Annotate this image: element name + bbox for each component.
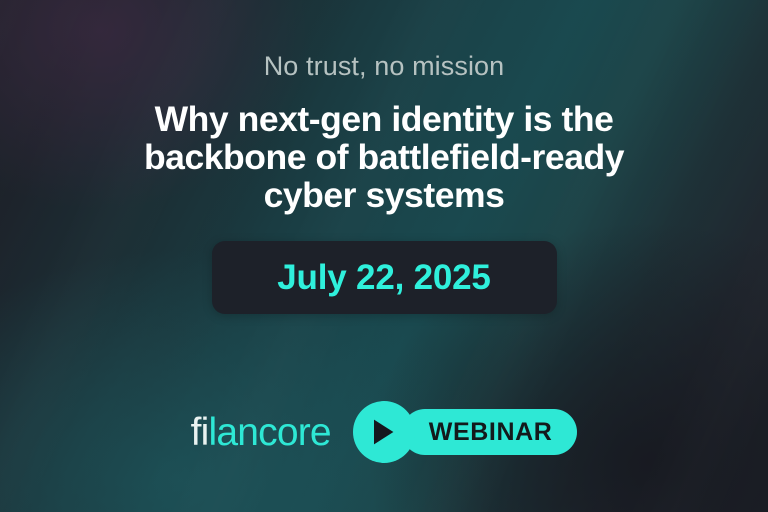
brand-footer: filancore WEBINAR	[0, 401, 768, 463]
play-triangle-icon	[371, 418, 396, 446]
logo-text-fi: fi	[191, 411, 209, 454]
headline-line-1: Why next-gen identity is the	[104, 100, 664, 138]
webinar-promo-slide: No trust, no mission Why next-gen identi…	[0, 0, 768, 512]
page-title: Why next-gen identity is the backbone of…	[104, 100, 664, 214]
headline-line-3: cyber systems	[104, 176, 664, 214]
play-button[interactable]	[353, 401, 415, 463]
filancore-logo: filancore	[191, 413, 331, 452]
webinar-pill: WEBINAR	[402, 409, 578, 455]
headline-line-2: backbone of battlefield-ready	[104, 138, 664, 176]
date-badge: July 22, 2025	[212, 241, 557, 314]
logo-text-lancore: lancore	[208, 411, 330, 454]
date-text: July 22, 2025	[277, 258, 490, 298]
slide-content: No trust, no mission Why next-gen identi…	[0, 0, 768, 512]
eyebrow-tagline: No trust, no mission	[264, 50, 505, 82]
webinar-label: WEBINAR	[429, 420, 553, 445]
webinar-badge: WEBINAR	[353, 401, 578, 463]
